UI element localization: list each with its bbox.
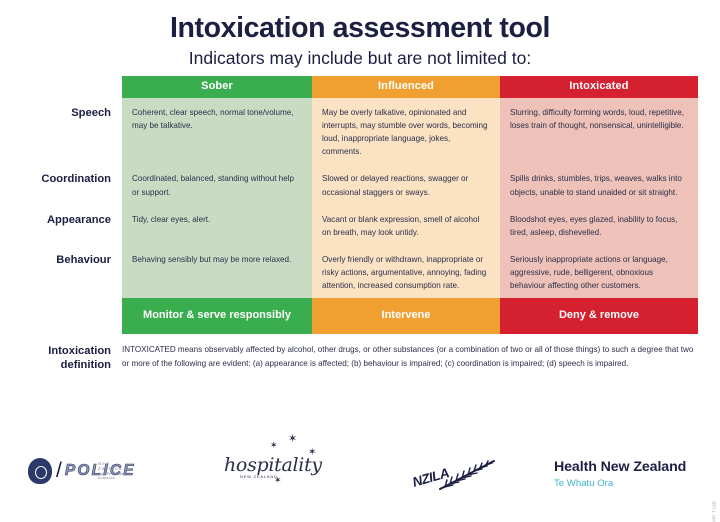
police-slash-divider: /: [56, 459, 62, 483]
logo-nzila: NZILA: [410, 456, 502, 496]
definition-label: Intoxication definition: [22, 343, 122, 372]
police-bottom-line: Nga Pirihimana O Aotearoa: [98, 472, 136, 480]
cell-appearance-influenced: Vacant or blank expression, smell of alc…: [312, 205, 500, 245]
row-label-behaviour: Behaviour: [22, 245, 122, 298]
police-top-line: New Zealand: [98, 461, 136, 471]
column-header-sober: Sober: [122, 76, 312, 98]
hospitality-star-icon-1: ✶: [270, 441, 278, 450]
action-sober: Monitor & serve responsibly: [122, 298, 312, 334]
row-label-appearance: Appearance: [22, 205, 122, 245]
cell-speech-sober: Coherent, clear speech, normal tone/volu…: [122, 98, 312, 164]
police-crest-icon: [28, 458, 52, 484]
hospitality-wordmark: hospitality: [224, 454, 322, 476]
logo-health-new-zealand: Health New Zealand Te Whatu Ora: [554, 460, 686, 490]
cell-coordination-sober: Coordinated, balanced, standing without …: [122, 164, 312, 204]
cell-speech-influenced: May be overly talkative, opinionated and…: [312, 98, 500, 164]
logo-nz-police: / New Zealand POLICE Nga Pirihimana O Ao…: [28, 458, 136, 484]
matrix-header-row: Sober Influenced Intoxicated: [22, 76, 698, 98]
hospitality-sub-wordmark: NEW ZEALAND: [240, 474, 278, 479]
row-label-speech: Speech: [22, 98, 122, 164]
matrix-row-behaviour: Behaviour Behaving sensibly but may be m…: [22, 245, 698, 298]
page-subtitle: Indicators may include but are not limit…: [0, 48, 720, 69]
column-header-intoxicated: Intoxicated: [500, 76, 698, 98]
cell-coordination-influenced: Slowed or delayed reactions, swagger or …: [312, 164, 500, 204]
row-label-coordination: Coordination: [22, 164, 122, 204]
definition-section: Intoxication definition INTOXICATED mean…: [22, 343, 698, 372]
definition-text: INTOXICATED means observably affected by…: [122, 343, 698, 372]
title-block: Intoxication assessment tool Indicators …: [0, 0, 720, 69]
action-intoxicated: Deny & remove: [500, 298, 698, 334]
matrix-row-coordination: Coordination Coordinated, balanced, stan…: [22, 164, 698, 204]
matrix-row-speech: Speech Coherent, clear speech, normal to…: [22, 98, 698, 164]
cell-coordination-intoxicated: Spills drinks, stumbles, trips, weaves, …: [500, 164, 698, 204]
matrix-action-row: Monitor & serve responsibly Intervene De…: [22, 298, 698, 334]
hospitality-star-icon-2: ✶: [288, 434, 297, 445]
cell-speech-intoxicated: Slurring, difficulty forming words, loud…: [500, 98, 698, 164]
matrix-row-appearance: Appearance Tidy, clear eyes, alert. Vaca…: [22, 205, 698, 245]
footer-logos: / New Zealand POLICE Nga Pirihimana O Ao…: [22, 452, 698, 500]
cell-behaviour-sober: Behaving sensibly but may be more relaxe…: [122, 245, 312, 298]
action-influenced: Intervene: [312, 298, 500, 334]
health-nz-title: Health New Zealand: [554, 460, 686, 476]
logo-hospitality-nz: ✶ ✶ ✶ ✶ hospitality NEW ZEALAND: [224, 454, 322, 476]
action-corner-spacer: [22, 298, 122, 334]
cell-appearance-sober: Tidy, clear eyes, alert.: [122, 205, 312, 245]
definition-label-line2: definition: [61, 359, 111, 371]
definition-label-line1: Intoxication: [48, 345, 111, 357]
cell-behaviour-intoxicated: Seriously inappropriate actions or langu…: [500, 245, 698, 298]
cell-appearance-intoxicated: Bloodshot eyes, eyes glazed, inability t…: [500, 205, 698, 245]
intoxication-assessment-poster: Intoxication assessment tool Indicators …: [0, 0, 720, 507]
silver-fern-icon: [436, 458, 498, 492]
header-corner-spacer: [22, 76, 122, 98]
page-title: Intoxication assessment tool: [0, 13, 720, 45]
cell-behaviour-influenced: Overly friendly or withdrawn, inappropri…: [312, 245, 500, 298]
assessment-matrix: Sober Influenced Intoxicated Speech Cohe…: [22, 76, 698, 372]
column-header-influenced: Influenced: [312, 76, 500, 98]
publication-code: HP 7108: [712, 501, 717, 522]
health-nz-subtitle: Te Whatu Ora: [554, 478, 686, 490]
